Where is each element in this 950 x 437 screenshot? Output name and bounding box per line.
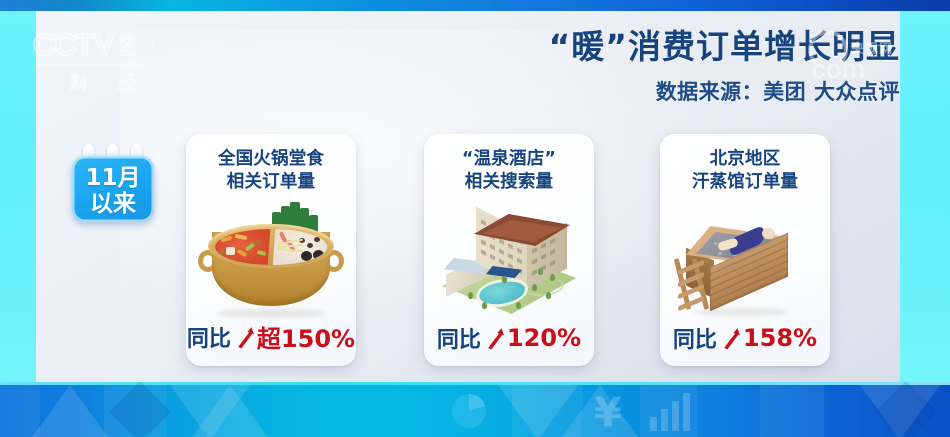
bottom-decorative-bar: ¥ (0, 382, 950, 437)
headline-block: “暖”消费订单增长明显 数据来源：美团 大众点评 (400, 26, 900, 106)
card-stat-footer: 同比 120% (424, 322, 594, 354)
period-calendar-badge: 11月 以来 (72, 152, 154, 222)
hotpot-broth (215, 229, 327, 265)
up-arrow-icon (721, 326, 741, 350)
compare-label: 同比 (673, 322, 717, 354)
sauna-shadow (694, 308, 790, 316)
left-cyan-rail (0, 11, 36, 382)
stat-card-sauna[interactable]: 北京地区 汗蒸馆订单量 (660, 134, 830, 366)
hotpot-illustration (186, 208, 356, 320)
card-stat-footer: 同比 超150% (186, 319, 356, 354)
currency-yen-glyph: ¥ (594, 390, 622, 436)
page-title: “暖”消费订单增长明显 (400, 26, 900, 68)
card-title-line2: 汗蒸馆订单量 (660, 171, 830, 194)
sauna-ladder-icon (676, 258, 714, 310)
card-title: “温泉酒店” 相关搜索量 (424, 148, 594, 194)
card-title: 全国火锅堂食 相关订单量 (186, 148, 356, 194)
calendar-body: 11月 以来 (72, 156, 154, 222)
card-title: 北京地区 汗蒸馆订单量 (660, 148, 830, 194)
right-cyan-rail (900, 11, 950, 382)
growth-value: 158% (743, 324, 817, 352)
card-title-line2: 相关搜索量 (424, 171, 594, 194)
stat-card-hot-spring-hotel[interactable]: “温泉酒店” 相关搜索量 (424, 134, 594, 366)
broadcast-graphic-stage: CCTV 2 财 经 “暖”消费订单增长明显 数据来源：美团 大众点评 央视网 … (0, 0, 950, 437)
card-title-line1: “温泉酒店” (424, 148, 594, 171)
card-stat-footer: 同比 158% (660, 322, 830, 354)
stat-card-hotpot[interactable]: 全国火锅堂食 相关订单量 (186, 134, 356, 366)
sauna-room-illustration (660, 208, 830, 320)
bar-chart-shape (650, 393, 690, 431)
compare-label: 同比 (187, 321, 231, 353)
up-arrow-icon (235, 325, 255, 349)
sauna-person-head (762, 228, 775, 239)
hotpot-noodles-icon (277, 241, 307, 251)
hotpot-shadow (216, 309, 326, 318)
period-since: 以来 (90, 191, 136, 217)
data-source-label: 数据来源：美团 大众点评 (400, 76, 900, 106)
growth-value: 超150% (257, 319, 355, 354)
top-accent-strip (0, 0, 950, 11)
card-title-line1: 全国火锅堂食 (186, 148, 356, 171)
up-arrow-icon (485, 326, 505, 350)
compare-label: 同比 (437, 322, 481, 354)
period-month: 11月 (85, 165, 140, 191)
card-title-line1: 北京地区 (660, 148, 830, 171)
growth-value: 120% (507, 324, 581, 352)
hot-spring-hotel-illustration (424, 208, 594, 320)
pie-chart-shape (452, 394, 486, 428)
card-title-line2: 相关订单量 (186, 171, 356, 194)
